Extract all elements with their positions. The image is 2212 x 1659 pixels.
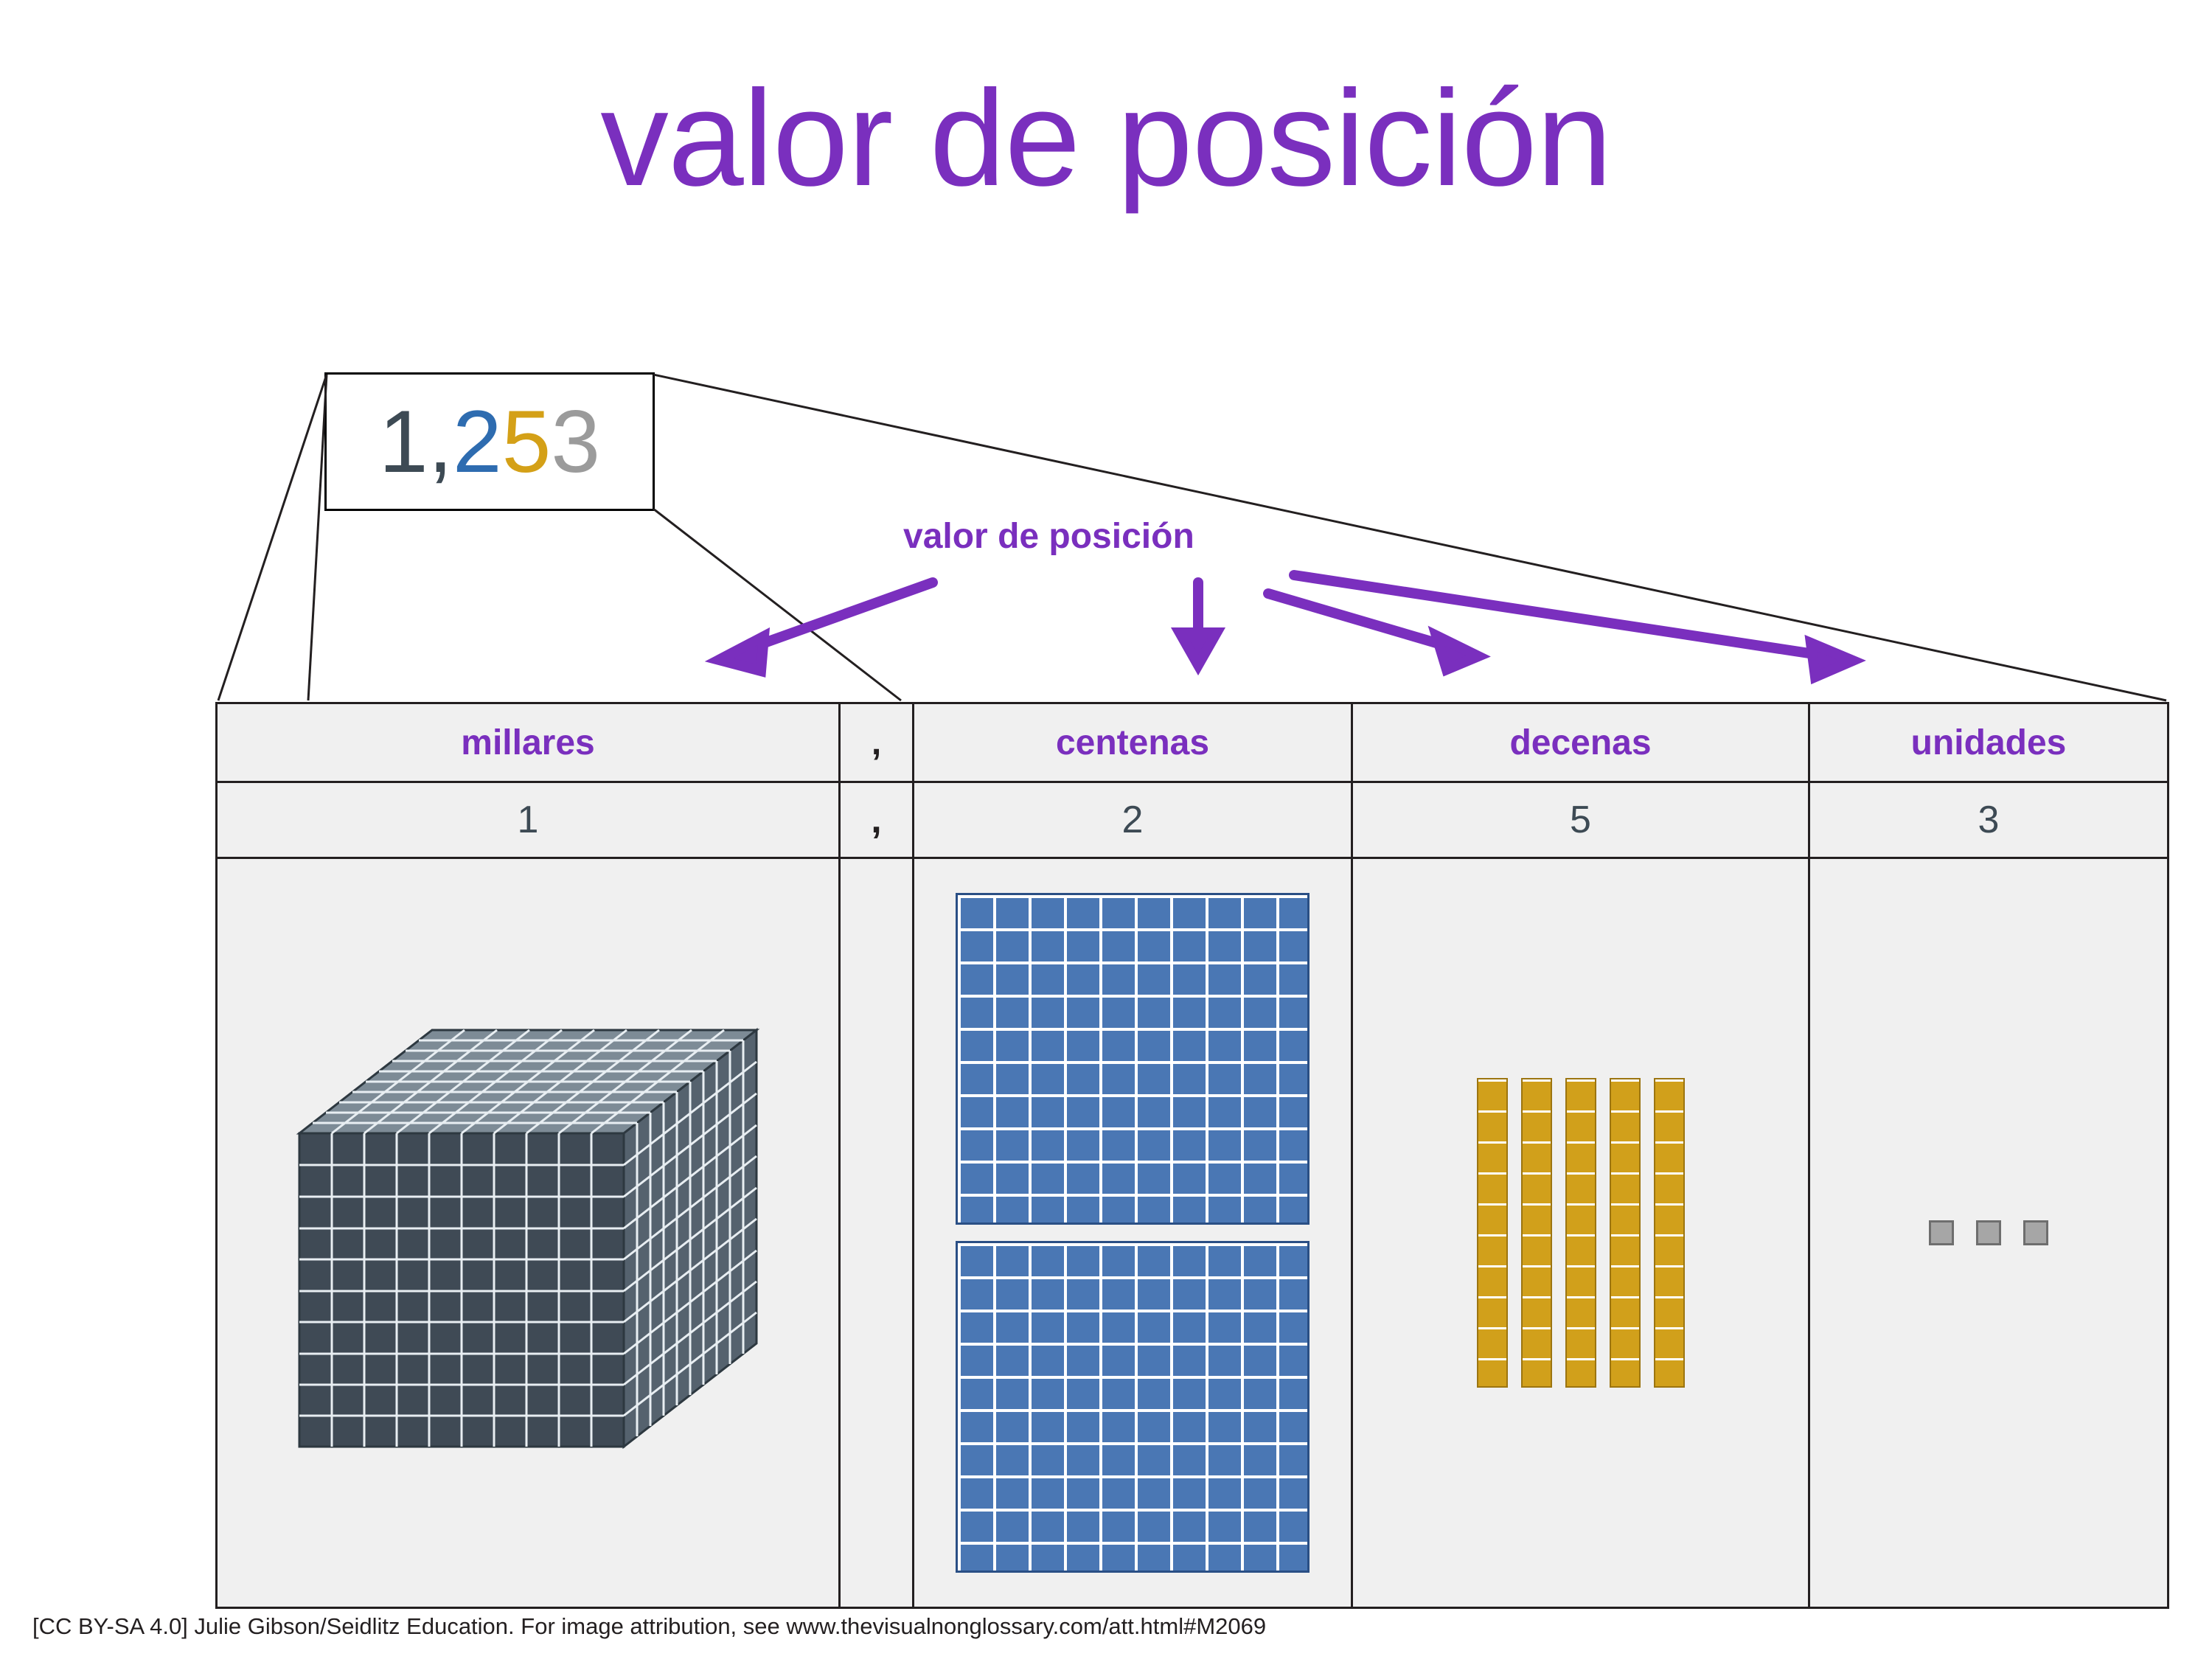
digit-cell-tens: 5 (1353, 783, 1810, 857)
callout-digit-units: 3 (551, 397, 600, 486)
header-cell-tens: decenas (1353, 704, 1810, 781)
ten-rod (1521, 1078, 1552, 1388)
hundred-flat (956, 893, 1310, 1225)
header-cell-comma: , (841, 704, 914, 781)
digit-comma: , (871, 798, 881, 842)
header-label-thousands: millares (461, 723, 594, 763)
table-blocks-row (218, 859, 2167, 1607)
digit-cell-units: 3 (1810, 783, 2167, 857)
table-digit-row: 1 , 2 5 3 (218, 783, 2167, 859)
place-value-table: millares , centenas decenas unidades 1 ,… (215, 702, 2169, 1609)
unit-cube (1976, 1220, 2001, 1245)
header-label-hundreds: centenas (1056, 723, 1209, 763)
header-label-tens: decenas (1509, 723, 1651, 763)
digit-hundreds: 2 (1122, 798, 1144, 842)
digit-cell-thousands: 1 (218, 783, 841, 857)
ten-rod (1610, 1078, 1641, 1388)
attribution-text: [CC BY-SA 4.0] Julie Gibson/Seidlitz Edu… (32, 1613, 1266, 1640)
callout-digit-thousands: 1 (379, 397, 428, 486)
digit-units: 3 (1978, 798, 2000, 842)
callout-digit-tens: 5 (502, 397, 552, 486)
blocks-cell-units (1810, 859, 2167, 1607)
callout-digit-hundreds: 2 (453, 397, 502, 486)
blocks-cell-comma (841, 859, 914, 1607)
unit-cube (2023, 1220, 2048, 1245)
blocks-cell-hundreds (914, 859, 1353, 1607)
header-label-comma: , (872, 723, 881, 763)
thousand-cube (292, 1004, 764, 1461)
ten-rod (1477, 1078, 1508, 1388)
digit-thousands: 1 (518, 798, 539, 842)
hundred-flat (956, 1241, 1310, 1573)
unit-cube (1929, 1220, 1954, 1245)
hundred-flats-group (914, 859, 1351, 1607)
ten-rod (1654, 1078, 1685, 1388)
unit-cubes-group (1810, 859, 2167, 1607)
header-cell-thousands: millares (218, 704, 841, 781)
header-label-units: unidades (1911, 723, 2067, 763)
blocks-cell-tens (1353, 859, 1810, 1607)
number-callout-box: 1,253 (324, 372, 655, 511)
table-header-row: millares , centenas decenas unidades (218, 704, 2167, 783)
header-cell-units: unidades (1810, 704, 2167, 781)
callout-label: valor de posición (903, 516, 1194, 557)
ten-rods-group (1353, 859, 1808, 1607)
header-cell-hundreds: centenas (914, 704, 1353, 781)
thousand-cube-group (218, 859, 838, 1607)
digit-cell-hundreds: 2 (914, 783, 1353, 857)
page-title: valor de posición (0, 71, 2212, 207)
ten-rod (1565, 1078, 1596, 1388)
blocks-cell-thousands (218, 859, 841, 1607)
callout-comma: , (428, 397, 453, 486)
digit-cell-comma: , (841, 783, 914, 857)
digit-tens: 5 (1570, 798, 1591, 842)
